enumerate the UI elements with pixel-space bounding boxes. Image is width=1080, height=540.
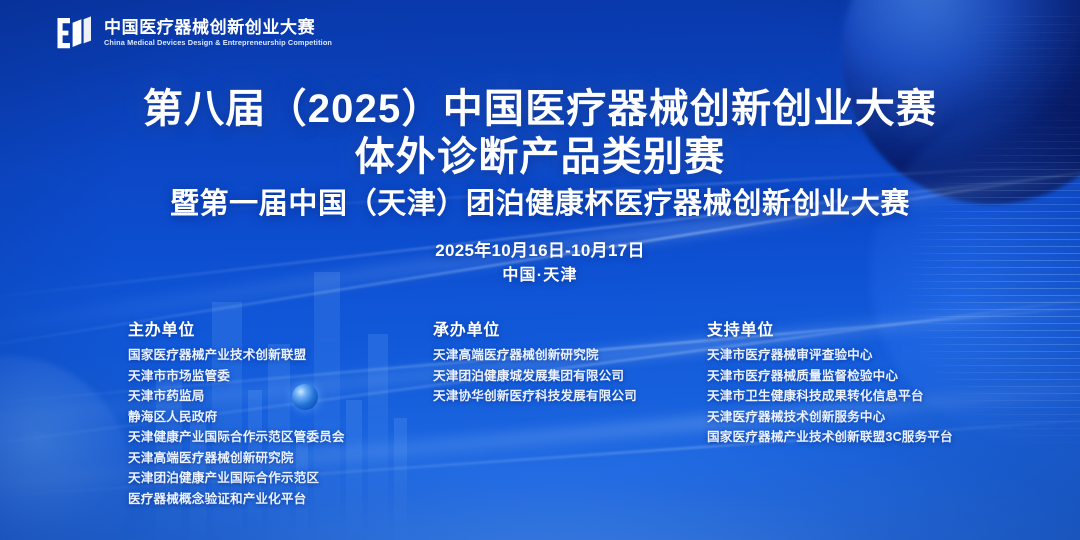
- title-line-3: 暨第一届中国（天津）团泊健康杯医疗器械创新创业大赛: [0, 187, 1080, 222]
- title-line-2: 体外诊断产品类别赛: [0, 133, 1080, 181]
- organizer-column-supporters: 支持单位 天津市医疗器械审评查验中心 天津市医疗器械质量监督检验中心 天津市卫生…: [707, 316, 953, 448]
- organizer-item: 天津市药监局: [128, 386, 345, 407]
- organizer-item: 国家医疗器械产业技术创新联盟3C服务平台: [707, 427, 953, 448]
- brand-logo: 中国医疗器械创新创业大赛 China Medical Devices Desig…: [54, 13, 328, 53]
- organizer-item: 天津团泊健康城发展集团有限公司: [433, 366, 637, 387]
- organizer-item: 天津市医疗器械审评查验中心: [707, 345, 953, 366]
- organizer-column-undertakers: 承办单位 天津高端医疗器械创新研究院 天津团泊健康城发展集团有限公司 天津协华创…: [433, 316, 637, 407]
- title-block: 第八届（2025）中国医疗器械创新创业大赛 体外诊断产品类别赛 暨第一届中国（天…: [0, 86, 1080, 222]
- conference-banner: 中国医疗器械创新创业大赛 China Medical Devices Desig…: [0, 0, 1080, 540]
- organizer-column-hosts: 主办单位 国家医疗器械产业技术创新联盟 天津市市场监管委 天津市药监局 静海区人…: [128, 316, 345, 509]
- organizer-item: 天津高端医疗器械创新研究院: [433, 345, 637, 366]
- event-date: 2025年10月16日-10月17日: [0, 238, 1080, 264]
- open-book-logo-icon: [54, 13, 94, 53]
- organizer-item: 天津协华创新医疗科技发展有限公司: [433, 386, 637, 407]
- organizer-item: 国家医疗器械产业技术创新联盟: [128, 345, 345, 366]
- banner-content: 中国医疗器械创新创业大赛 China Medical Devices Desig…: [0, 0, 1080, 540]
- brand-name-cn: 中国医疗器械创新创业大赛: [104, 19, 328, 37]
- organizer-heading: 主办单位: [128, 316, 345, 340]
- title-line-1: 第八届（2025）中国医疗器械创新创业大赛: [0, 86, 1080, 133]
- organizer-item: 天津医疗器械技术创新服务中心: [707, 407, 953, 428]
- organizer-item: 天津市卫生健康科技成果转化信息平台: [707, 386, 953, 407]
- organizer-item: 静海区人民政府: [128, 407, 345, 428]
- brand-logo-text: 中国医疗器械创新创业大赛 China Medical Devices Desig…: [104, 19, 328, 46]
- organizer-heading: 支持单位: [707, 316, 953, 340]
- event-meta: 2025年10月16日-10月17日 中国·天津: [0, 238, 1080, 287]
- brand-name-en: China Medical Devices Design & Entrepren…: [104, 39, 332, 47]
- organizer-heading: 承办单位: [433, 316, 637, 340]
- organizer-columns: 主办单位 国家医疗器械产业技术创新联盟 天津市市场监管委 天津市药监局 静海区人…: [0, 316, 1080, 506]
- organizer-item: 天津团泊健康产业国际合作示范区: [128, 468, 345, 489]
- organizer-item: 天津健康产业国际合作示范区管委员会: [128, 427, 345, 448]
- organizer-item: 天津市市场监管委: [128, 366, 345, 387]
- organizer-item: 天津市医疗器械质量监督检验中心: [707, 366, 953, 387]
- organizer-item: 天津高端医疗器械创新研究院: [128, 448, 345, 469]
- organizer-item: 医疗器械概念验证和产业化平台: [128, 489, 345, 510]
- event-location: 中国·天津: [0, 264, 1080, 287]
